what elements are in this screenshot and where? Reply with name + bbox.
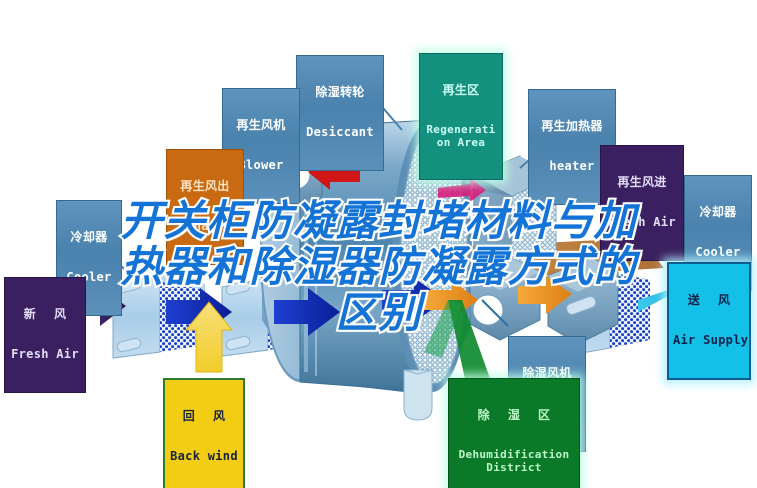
label-regeneration-exhaust-cn: 再生风出 bbox=[171, 180, 239, 193]
label-regeneration-blower-cn: 再生风机 bbox=[227, 119, 295, 132]
label-fresh-air-in-en: Fresh Air bbox=[9, 348, 81, 361]
label-desiccant-wheel[interactable]: 除湿转轮 Desiccant bbox=[296, 55, 384, 171]
label-regeneration-exhaust[interactable]: 再生风出 Exhaust bbox=[166, 149, 244, 265]
label-regeneration-fresh-air-in[interactable]: 再生风进 Fresh Air bbox=[600, 145, 684, 261]
label-regeneration-exhaust-en: Exhaust bbox=[171, 220, 239, 233]
label-regeneration-fresh-air-in-cn: 再生风进 bbox=[605, 176, 679, 189]
label-desiccant-wheel-en: Desiccant bbox=[301, 126, 379, 139]
label-cooler-left-cn: 冷却器 bbox=[61, 231, 117, 244]
label-regeneration-area-cn: 再生区 bbox=[423, 84, 499, 97]
label-regeneration-area[interactable]: 再生区 Regenerati on Area bbox=[419, 53, 503, 180]
label-air-supply[interactable]: 送 风 Air Supply bbox=[667, 262, 751, 380]
label-regeneration-fresh-air-in-en: Fresh Air bbox=[605, 216, 679, 229]
label-regeneration-heater-cn: 再生加热器 bbox=[533, 120, 611, 133]
label-fresh-air-in-cn: 新 风 bbox=[9, 308, 81, 321]
label-back-wind[interactable]: 回 风 Back wind bbox=[163, 378, 245, 488]
label-air-supply-cn: 送 风 bbox=[673, 294, 745, 307]
diagram-canvas: XTM bbox=[0, 0, 757, 488]
label-dehumidification-district[interactable]: 除 湿 区 Dehumidification District bbox=[448, 378, 580, 488]
label-desiccant-wheel-cn: 除湿转轮 bbox=[301, 86, 379, 99]
label-dehumidification-district-cn: 除 湿 区 bbox=[453, 409, 575, 422]
label-air-supply-en: Air Supply bbox=[673, 334, 745, 347]
label-fresh-air-in[interactable]: 新 风 Fresh Air bbox=[4, 277, 86, 393]
label-cooler-right-cn: 冷却器 bbox=[689, 206, 747, 219]
label-cooler-right-en: Cooler bbox=[689, 246, 747, 259]
label-back-wind-en: Back wind bbox=[169, 450, 239, 463]
condensate-pan bbox=[404, 370, 432, 420]
label-back-wind-cn: 回 风 bbox=[169, 410, 239, 423]
label-dehumidification-district-en: Dehumidification District bbox=[453, 449, 575, 474]
label-regeneration-area-en: Regenerati on Area bbox=[423, 124, 499, 149]
